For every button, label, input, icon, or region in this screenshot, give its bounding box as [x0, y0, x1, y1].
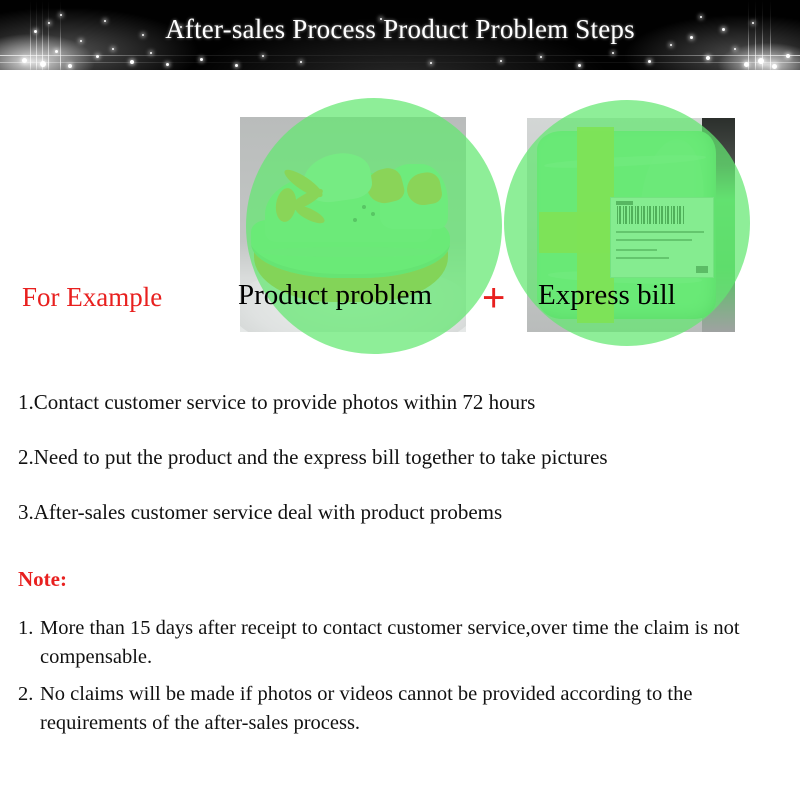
step-item-1: 1.Contact customer service to provide ph… — [18, 392, 788, 413]
for-example-label: For Example — [22, 282, 162, 313]
express-bill-caption: Express bill — [538, 279, 676, 312]
steps-list: 1.Contact customer service to provide ph… — [18, 392, 788, 557]
header-banner: After-sales Process Product Problem Step… — [0, 0, 800, 70]
step-item-3: 3.After-sales customer service deal with… — [18, 502, 788, 523]
plus-icon: + — [482, 278, 505, 318]
note-item-1-number: 1. — [18, 614, 40, 672]
page-title: After-sales Process Product Problem Step… — [0, 14, 800, 45]
note-item-1: 1. More than 15 days after receipt to co… — [18, 614, 794, 672]
page-root: After-sales Process Product Problem Step… — [0, 0, 800, 800]
shipping-label — [610, 197, 714, 278]
note-item-2-number: 2. — [18, 680, 40, 738]
note-heading: Note: — [18, 567, 794, 592]
note-item-2-text: No claims will be made if photos or vide… — [40, 680, 794, 738]
note-item-1-text: More than 15 days after receipt to conta… — [40, 614, 794, 672]
note-section: Note: 1. More than 15 days after receipt… — [18, 567, 794, 746]
step-item-2: 2.Need to put the product and the expres… — [18, 447, 788, 468]
example-section: For Example Produ — [0, 70, 800, 360]
product-problem-caption: Product problem — [238, 279, 432, 312]
barcode-icon — [617, 206, 684, 223]
note-item-2: 2. No claims will be made if photos or v… — [18, 680, 794, 738]
